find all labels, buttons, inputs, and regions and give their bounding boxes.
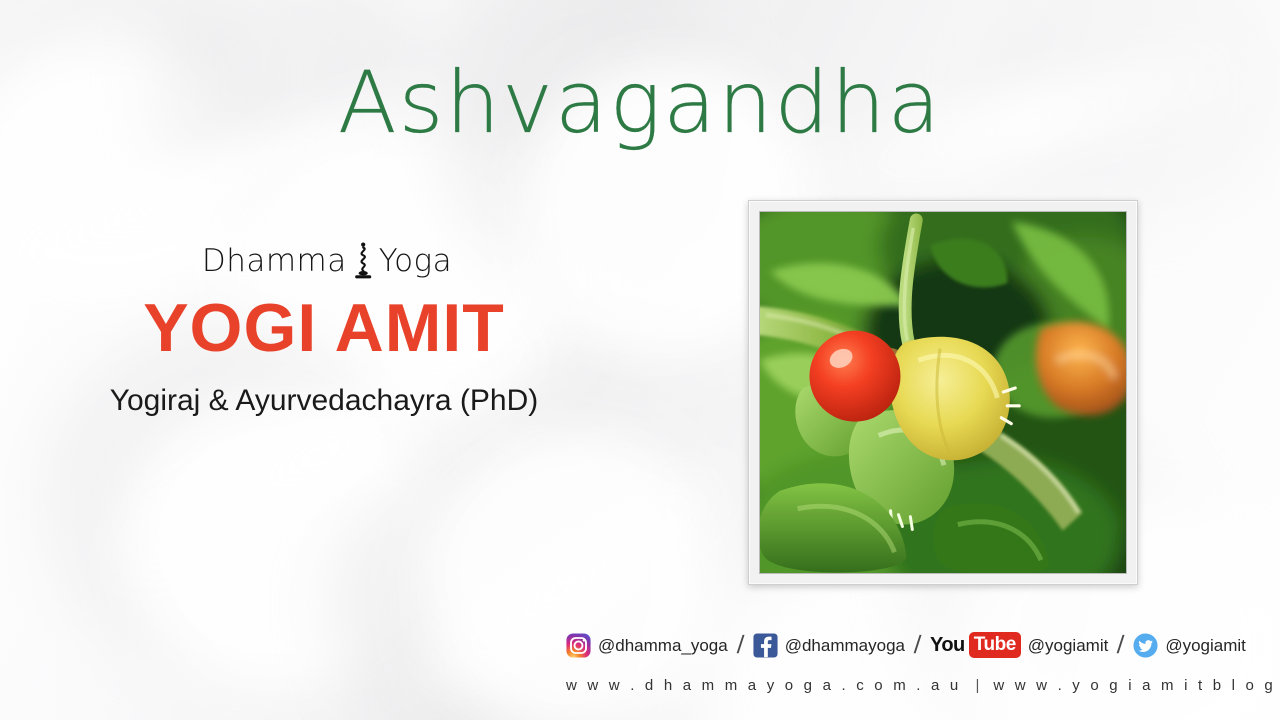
presentation-slide: Ashvagandha Dhamma Yoga YOGI AMIT Yogira… (0, 0, 1280, 720)
youtube-logo-you: You (930, 635, 965, 655)
social-link-youtube[interactable]: You Tube @yogiamit (930, 631, 1108, 659)
separator-3: / (1112, 633, 1130, 658)
brand-word-dhamma: Dhamma (202, 246, 347, 277)
youtube-handle: @yogiamit (1028, 637, 1109, 654)
website-secondary[interactable]: w w w . y o g i a m i t b l o g . c o m … (993, 677, 1280, 694)
meditation-incense-icon (351, 241, 375, 281)
slide-title: Ashvagandha (0, 60, 1280, 146)
social-link-instagram[interactable]: @dhamma_yoga (566, 631, 728, 659)
social-link-facebook[interactable]: @dhammayoga (753, 631, 905, 659)
brand-word-yoga: Yoga (379, 246, 452, 277)
website-divider: | (975, 677, 979, 694)
social-link-twitter[interactable]: @yogiamit (1133, 631, 1246, 659)
website-urls: w w w . d h a m m a y o g a . c o m . a … (566, 677, 1266, 694)
youtube-icon[interactable]: You Tube (930, 632, 1021, 658)
facebook-icon[interactable] (753, 633, 778, 658)
presenter-credentials: Yogiraj & Ayurvedachayra (PhD) (64, 384, 584, 417)
social-links-bar: @dhamma_yoga / @dhammayoga / You Tube @y… (566, 630, 1246, 660)
presenter-name: YOGI AMIT (64, 294, 584, 362)
instagram-handle: @dhamma_yoga (598, 637, 728, 654)
facebook-handle: @dhammayoga (785, 637, 905, 654)
separator-1: / (731, 633, 749, 658)
brand-logo: Dhamma Yoga (64, 244, 584, 278)
presenter-identity-block: Dhamma Yoga YOGI AMIT Yogiraj & Ayurveda… (64, 244, 584, 417)
twitter-icon[interactable] (1133, 633, 1158, 658)
photo-frame (748, 200, 1138, 585)
ashvagandha-plant-photo (759, 211, 1127, 574)
website-primary[interactable]: w w w . d h a m m a y o g a . c o m . a … (566, 677, 961, 694)
youtube-logo-tube: Tube (969, 632, 1021, 658)
twitter-handle: @yogiamit (1165, 637, 1246, 654)
instagram-icon[interactable] (566, 633, 591, 658)
separator-2: / (908, 633, 926, 658)
